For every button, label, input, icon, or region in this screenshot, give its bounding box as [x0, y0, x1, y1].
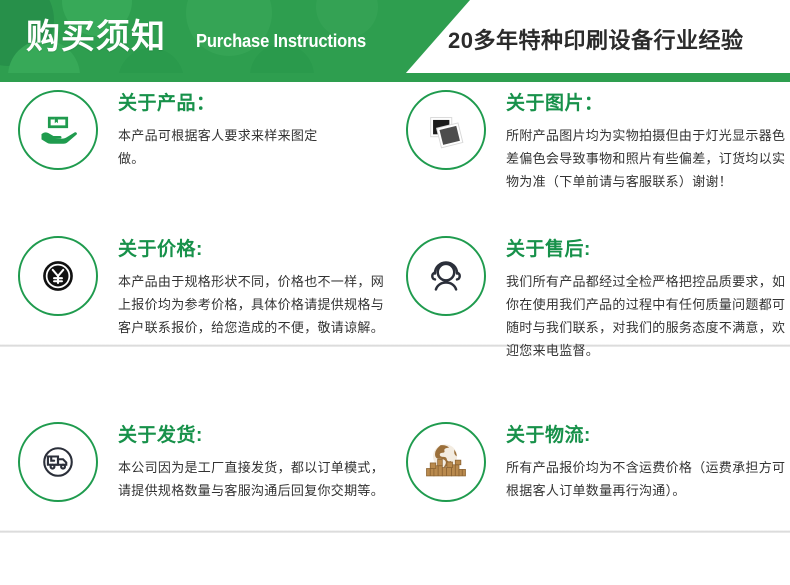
info-block-text: 关于物流: 所有产品报价均为不含运费价格（运费承担方可根据客人订单数量再行沟通）… [486, 422, 790, 502]
block-body: 本产品可根据客人要求来样来图定做。 [118, 124, 323, 170]
block-body: 所附产品图片均为实物拍摄但由于灯光显示器色差偏色会导致事物和照片有些偏差，订货均… [506, 124, 790, 193]
block-body: 所有产品报价均为不含运费价格（运费承担方可根据客人订单数量再行沟通）。 [506, 456, 790, 502]
instructions-row: 关于价格: 本产品由于规格形状不同，价格也不一样，网上报价均为参考价格，具体价格… [0, 236, 790, 422]
header-tagline: 20多年特种印刷设备行业经验 [448, 26, 743, 56]
block-title: 关于物流: [506, 423, 790, 449]
globe-boxes-icon [406, 422, 486, 502]
block-body: 我们所有产品都经过全检严格把控品质要求，如你在使用我们产品的过程中有任何质量问题… [506, 270, 790, 362]
delivery-truck-icon [18, 422, 98, 502]
info-block-logistics: 关于物流: 所有产品报价均为不含运费价格（运费承担方可根据客人订单数量再行沟通）… [388, 422, 790, 582]
header-green-rule [0, 73, 790, 82]
info-block-text: 关于价格: 本产品由于规格形状不同，价格也不一样，网上报价均为参考价格，具体价格… [98, 236, 388, 339]
block-title: 关于售后: [506, 237, 790, 263]
block-title: 关于图片： [506, 91, 790, 117]
instructions-row: 关于产品： 本产品可根据客人要求来样来图定做。 [0, 90, 790, 236]
hand-holding-box-icon [18, 90, 98, 170]
instructions-row: 关于发货: 本公司因为是工厂直接发货，都以订单模式，请提供规格数量与客服沟通后回… [0, 422, 790, 582]
info-block-text: 关于图片： 所附产品图片均为实物拍摄但由于灯光显示器色差偏色会导致事物和照片有些… [486, 90, 790, 193]
instructions-grid: 关于产品： 本产品可根据客人要求来样来图定做。 [0, 90, 790, 585]
block-title: 关于产品： [118, 91, 388, 117]
purchase-instructions-page: 购买须知 Purchase Instructions 20多年特种印刷设备行业经… [0, 0, 790, 585]
info-block-text: 关于产品： 本产品可根据客人要求来样来图定做。 [98, 90, 388, 170]
block-title: 关于价格: [118, 237, 388, 263]
info-block-picture: 关于图片： 所附产品图片均为实物拍摄但由于灯光显示器色差偏色会导致事物和照片有些… [388, 90, 790, 236]
info-block-text: 关于售后: 我们所有产品都经过全检严格把控品质要求，如你在使用我们产品的过程中有… [486, 236, 790, 362]
page-header: 购买须知 Purchase Instructions 20多年特种印刷设备行业经… [0, 0, 790, 90]
header-green-banner: 购买须知 Purchase Instructions [0, 0, 470, 82]
page-title-cn: 购买须知 [26, 17, 166, 57]
info-block-price: 关于价格: 本产品由于规格形状不同，价格也不一样，网上报价均为参考价格，具体价格… [0, 236, 388, 422]
block-body: 本公司因为是工厂直接发货，都以订单模式，请提供规格数量与客服沟通后回复你交期等。 [118, 456, 388, 502]
info-block-after-sales: 关于售后: 我们所有产品都经过全检严格把控品质要求，如你在使用我们产品的过程中有… [388, 236, 790, 422]
block-title: 关于发货: [118, 423, 388, 449]
headset-support-icon [406, 236, 486, 316]
info-block-product: 关于产品： 本产品可根据客人要求来样来图定做。 [0, 90, 388, 236]
info-block-shipping: 关于发货: 本公司因为是工厂直接发货，都以订单模式，请提供规格数量与客服沟通后回… [0, 422, 388, 582]
info-block-text: 关于发货: 本公司因为是工厂直接发货，都以订单模式，请提供规格数量与客服沟通后回… [98, 422, 388, 502]
page-title-en: Purchase Instructions [196, 30, 366, 52]
photos-icon [406, 90, 486, 170]
yuan-coin-icon [18, 236, 98, 316]
block-body: 本产品由于规格形状不同，价格也不一样，网上报价均为参考价格，具体价格请提供规格与… [118, 270, 388, 339]
